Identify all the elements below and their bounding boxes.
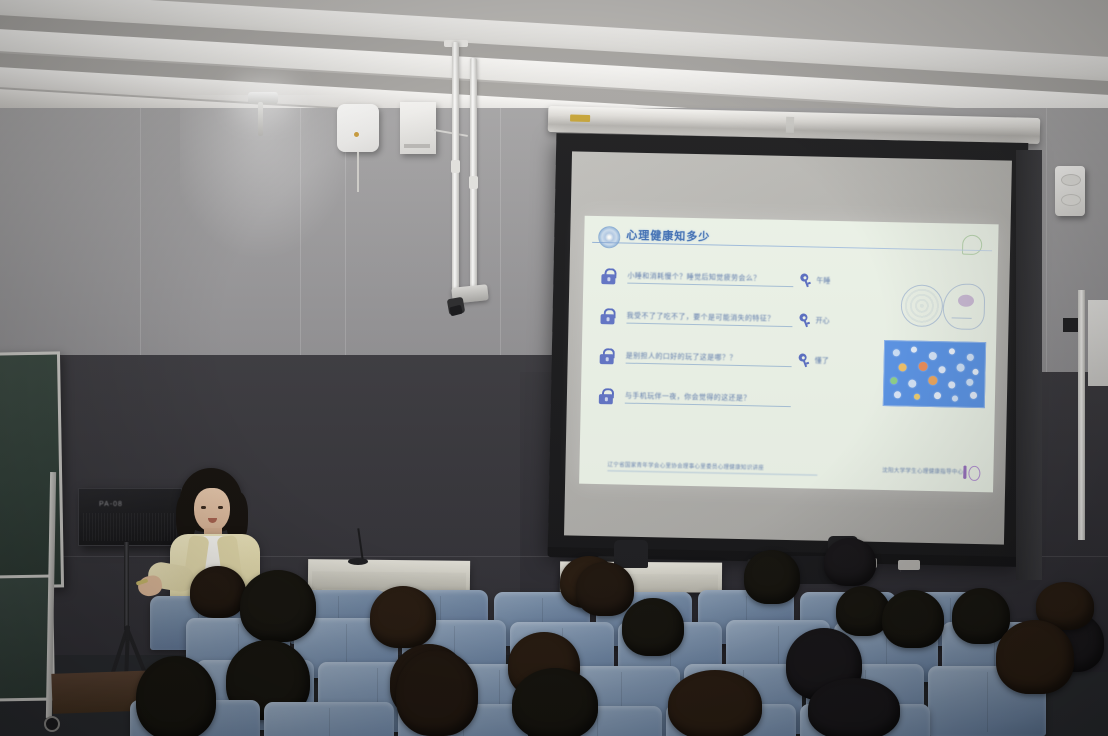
brain-head-illustration	[900, 280, 983, 334]
padlock-icon	[599, 388, 613, 404]
speaker-tripod-pole	[124, 542, 129, 630]
audience-head	[952, 588, 1010, 644]
lecture-hall-photo: 心理健康知多少 小睡和消耗慢个？睡觉后知觉疲劳会么？	[0, 0, 1108, 736]
microphone-base	[348, 558, 368, 565]
wireless-access-point-icon	[337, 104, 379, 152]
presenter-face	[194, 488, 230, 532]
floor-post	[1078, 290, 1085, 540]
padlock-icon	[601, 268, 615, 284]
audience-head	[240, 570, 316, 642]
key-icon	[797, 272, 813, 289]
question-box: 我受不了了吃不了，要个是可能消失的特征？	[626, 310, 792, 326]
key-answer: 懂了	[798, 353, 850, 368]
padlock-icon	[600, 348, 614, 364]
key-icon	[796, 312, 812, 329]
center-logo-mark-icon	[963, 466, 983, 480]
question-box: 与手机玩伴一夜，你会觉得的这还是？	[625, 390, 791, 406]
projection-screen-frame: 心理健康知多少 小睡和消耗慢个？睡觉后知觉疲劳会么？	[548, 133, 1029, 561]
leaf-icon	[962, 235, 982, 255]
audience-head	[744, 550, 800, 604]
brain-circle-icon	[900, 284, 943, 327]
audience-head	[136, 656, 216, 736]
audience-head	[576, 562, 634, 616]
spotlight-stem	[258, 102, 263, 136]
right-wall-panel	[1088, 300, 1108, 386]
audience-head	[996, 620, 1074, 694]
wall-outlet-icon	[898, 560, 920, 570]
stage-chair	[614, 540, 648, 568]
ceiling	[0, 0, 1108, 120]
swirl-logo-icon	[598, 226, 620, 248]
audience-head	[668, 670, 762, 736]
audience-head	[882, 590, 944, 648]
slide-row: 与手机玩伴一夜，你会觉得的这还是？	[599, 376, 850, 421]
wall-control-box-icon	[400, 102, 436, 154]
key-icon	[796, 352, 812, 369]
question-text: 小睡和消耗慢个？睡觉后知觉疲劳会么？	[627, 270, 793, 283]
audience-head	[370, 586, 436, 648]
key-answer: 开心	[798, 313, 850, 328]
question-text: 是别担人的口好的玩了这是哪？？	[626, 350, 792, 363]
slide-header: 心理健康知多少	[594, 224, 988, 258]
presenter-eye	[218, 506, 223, 509]
presenter-eye	[201, 506, 206, 509]
ceiling-spotlight-icon	[248, 92, 278, 104]
audience-head	[808, 678, 900, 736]
key-label: 懂了	[815, 356, 829, 366]
audience-head	[512, 668, 598, 736]
blue-emoji-grid-image	[883, 340, 986, 408]
slide-title: 心理健康知多少	[626, 227, 710, 245]
slide-question-list: 小睡和消耗慢个？睡觉后知觉疲劳会么？ 午睡	[599, 256, 852, 421]
footer-left-text: 辽宁省国家青年学会心里协会理事心里委员心理健康知识讲座	[607, 460, 817, 475]
wall-mount-plate	[1063, 318, 1079, 332]
audience-head	[396, 650, 478, 736]
question-text: 与手机玩伴一夜，你会觉得的这还是？	[625, 390, 791, 403]
head-profile-icon	[942, 283, 985, 330]
slide-footer: 辽宁省国家青年学会心里协会理事心里委员心理健康知识讲座 沈阳大学学生心理健康指导…	[589, 460, 985, 482]
right-wall-edge	[1016, 150, 1042, 580]
chalkboard-wheel	[44, 716, 60, 732]
padlock-icon	[600, 308, 614, 324]
audience-head	[622, 598, 684, 656]
projected-slide: 心理健康知多少 小睡和消耗慢个？睡觉后知觉疲劳会么？	[579, 216, 999, 493]
slide-row: 我受不了了吃不了，要个是可能消失的特征？ 开心	[600, 296, 851, 341]
key-label: 开心	[815, 316, 829, 326]
slide-row: 是别担人的口好的玩了这是哪？？ 懂了	[599, 336, 850, 381]
audience-head	[190, 566, 246, 618]
projection-screen-surface: 心理健康知多少 小睡和消耗慢个？睡觉后知觉疲劳会么？	[564, 151, 1012, 544]
wall-speaker-icon	[1055, 166, 1085, 216]
question-box: 小睡和消耗慢个？睡觉后知觉疲劳会么？	[627, 270, 793, 286]
key-answer	[797, 400, 849, 401]
seat	[264, 702, 394, 736]
speaker-brand-label: PA-08	[99, 501, 123, 508]
footer-right-text: 沈阳大学学生心理健康指导中心	[882, 466, 963, 476]
key-label: 午睡	[816, 276, 830, 286]
slide-row: 小睡和消耗慢个？睡觉后知觉疲劳会么？ 午睡	[601, 256, 852, 301]
audience-head	[824, 538, 876, 586]
question-box: 是别担人的口好的玩了这是哪？？	[626, 350, 792, 366]
key-answer: 午睡	[799, 273, 851, 288]
question-text: 我受不了了吃不了，要个是可能消失的特征？	[627, 310, 793, 323]
